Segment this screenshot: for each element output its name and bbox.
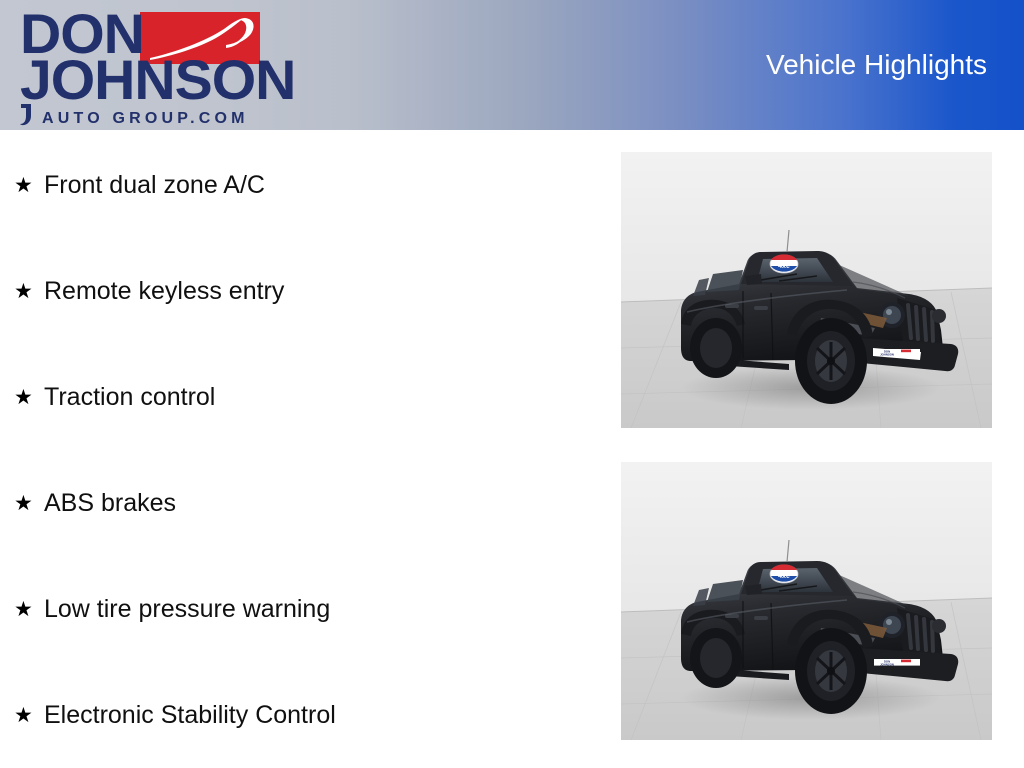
highlight-item-label: Front dual zone A/C xyxy=(44,171,265,199)
dealer-logo[interactable]: DON JOHNSON AUTO GROUP.COM xyxy=(12,6,262,126)
page-content: ★Front dual zone A/C★Remote keyless entr… xyxy=(0,130,1024,768)
logo-tagline: AUTO GROUP.COM xyxy=(42,110,249,128)
logo-line-johnson: JOHNSON xyxy=(20,52,295,108)
windshield-badge-4xe-2: 4xe xyxy=(770,564,798,583)
highlight-item-label: Remote keyless entry xyxy=(44,277,284,305)
license-plate-2: DON JOHNSON xyxy=(874,659,920,666)
windshield-badge-4xe: 4xe xyxy=(770,254,798,273)
svg-text:4xe: 4xe xyxy=(778,573,790,580)
star-bullet-icon: ★ xyxy=(14,387,44,408)
highlight-item: ★Front dual zone A/C xyxy=(14,170,265,200)
highlight-item: ★Remote keyless entry xyxy=(14,276,284,306)
highlight-item-label: ABS brakes xyxy=(44,489,176,517)
highlight-item-label: Low tire pressure warning xyxy=(44,595,330,623)
highlight-item: ★Low tire pressure warning xyxy=(14,594,330,624)
star-bullet-icon: ★ xyxy=(14,175,44,196)
front-wheel-2 xyxy=(795,628,867,714)
page-header: DON JOHNSON AUTO GROUP.COM Vehicle Highl… xyxy=(0,0,1024,130)
jeep-wrangler-image: 4xe xyxy=(621,152,992,428)
highlight-item: ★ABS brakes xyxy=(14,488,176,518)
highlight-item: ★Traction control xyxy=(14,382,215,412)
jeep-wrangler-image-2: 4xe DON JOHNSON xyxy=(621,462,992,740)
vehicle-photo-1[interactable]: 4xe xyxy=(621,152,992,428)
star-bullet-icon: ★ xyxy=(14,281,44,302)
page-title: Vehicle Highlights xyxy=(766,48,987,82)
highlight-item: ★Electronic Stability Control xyxy=(14,700,336,730)
star-bullet-icon: ★ xyxy=(14,705,44,726)
vehicle-photo-2[interactable]: 4xe DON JOHNSON xyxy=(621,462,992,740)
svg-text:4xe: 4xe xyxy=(778,263,790,270)
rear-wheel-2 xyxy=(690,628,742,688)
star-bullet-icon: ★ xyxy=(14,599,44,620)
star-bullet-icon: ★ xyxy=(14,493,44,514)
svg-text:JOHNSON: JOHNSON xyxy=(880,352,894,356)
front-wheel xyxy=(795,318,867,404)
highlight-item-label: Traction control xyxy=(44,383,215,411)
svg-text:JOHNSON: JOHNSON xyxy=(880,662,894,666)
vehicle-highlights-list: ★Front dual zone A/C★Remote keyless entr… xyxy=(0,130,600,768)
highlight-item-label: Electronic Stability Control xyxy=(44,701,336,729)
rear-wheel xyxy=(690,318,742,378)
